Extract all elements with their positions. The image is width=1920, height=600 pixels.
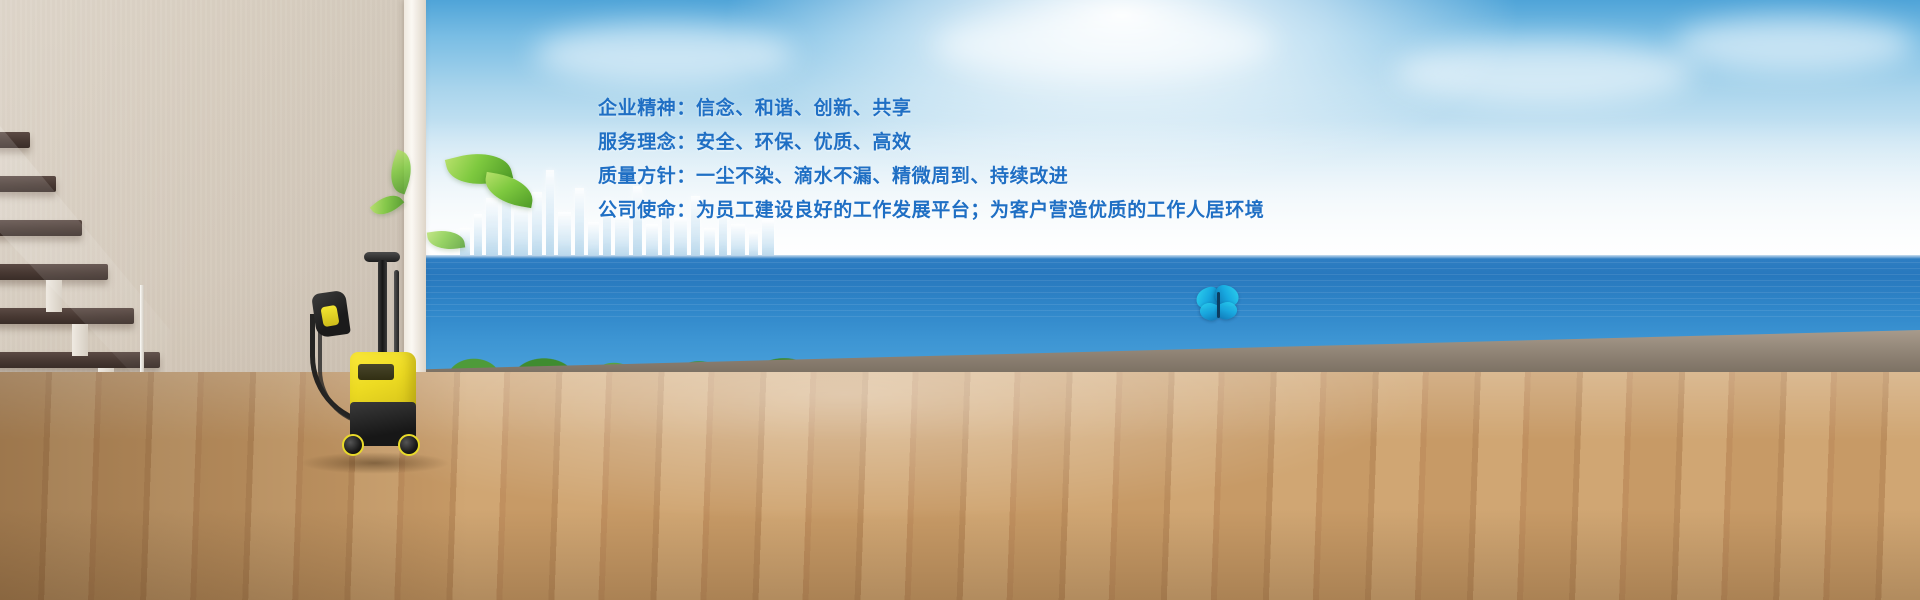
building: [532, 192, 542, 258]
philosophy-text-block: 企业精神：信念、和谐、创新、共享 服务理念：安全、环保、优质、高效 质量方针：一…: [598, 92, 1298, 228]
stair-riser: [72, 324, 88, 356]
corporate-philosophy-banner: 企业精神：信念、和谐、创新、共享 服务理念：安全、环保、优质、高效 质量方针：一…: [0, 0, 1920, 600]
cloud: [934, 10, 1274, 80]
building: [731, 224, 745, 258]
washer-spray-lance: [394, 270, 399, 362]
building: [546, 170, 554, 258]
washer-trigger: [320, 305, 339, 327]
building: [558, 212, 571, 258]
philosophy-line-company-mission: 公司使命：为员工建设良好的工作发展平台；为客户营造优质的工作人居环境: [598, 194, 1298, 228]
washer-wheel: [342, 434, 364, 456]
butterfly-body: [1217, 292, 1220, 318]
philosophy-line-service-concept: 服务理念：安全、环保、优质、高效: [598, 126, 1298, 160]
building: [704, 228, 715, 258]
washer-wheel: [398, 434, 420, 456]
butterfly-icon: [1196, 286, 1242, 330]
cloud: [1394, 40, 1694, 104]
cloud: [1674, 16, 1914, 72]
sea-shimmer: [414, 262, 1920, 322]
sea-horizon-line: [414, 255, 1920, 259]
cloud: [534, 24, 794, 84]
philosophy-line-corporate-spirit: 企业精神：信念、和谐、创新、共享: [598, 92, 1298, 126]
philosophy-line-quality-policy: 质量方针：一尘不染、滴水不漏、精微周到、持续改进: [598, 160, 1298, 194]
building: [575, 188, 584, 258]
building: [514, 206, 528, 258]
washer-control-panel: [358, 364, 394, 380]
pressure-washer: [308, 252, 426, 464]
building: [474, 214, 482, 258]
building: [646, 224, 658, 258]
building: [486, 198, 498, 258]
